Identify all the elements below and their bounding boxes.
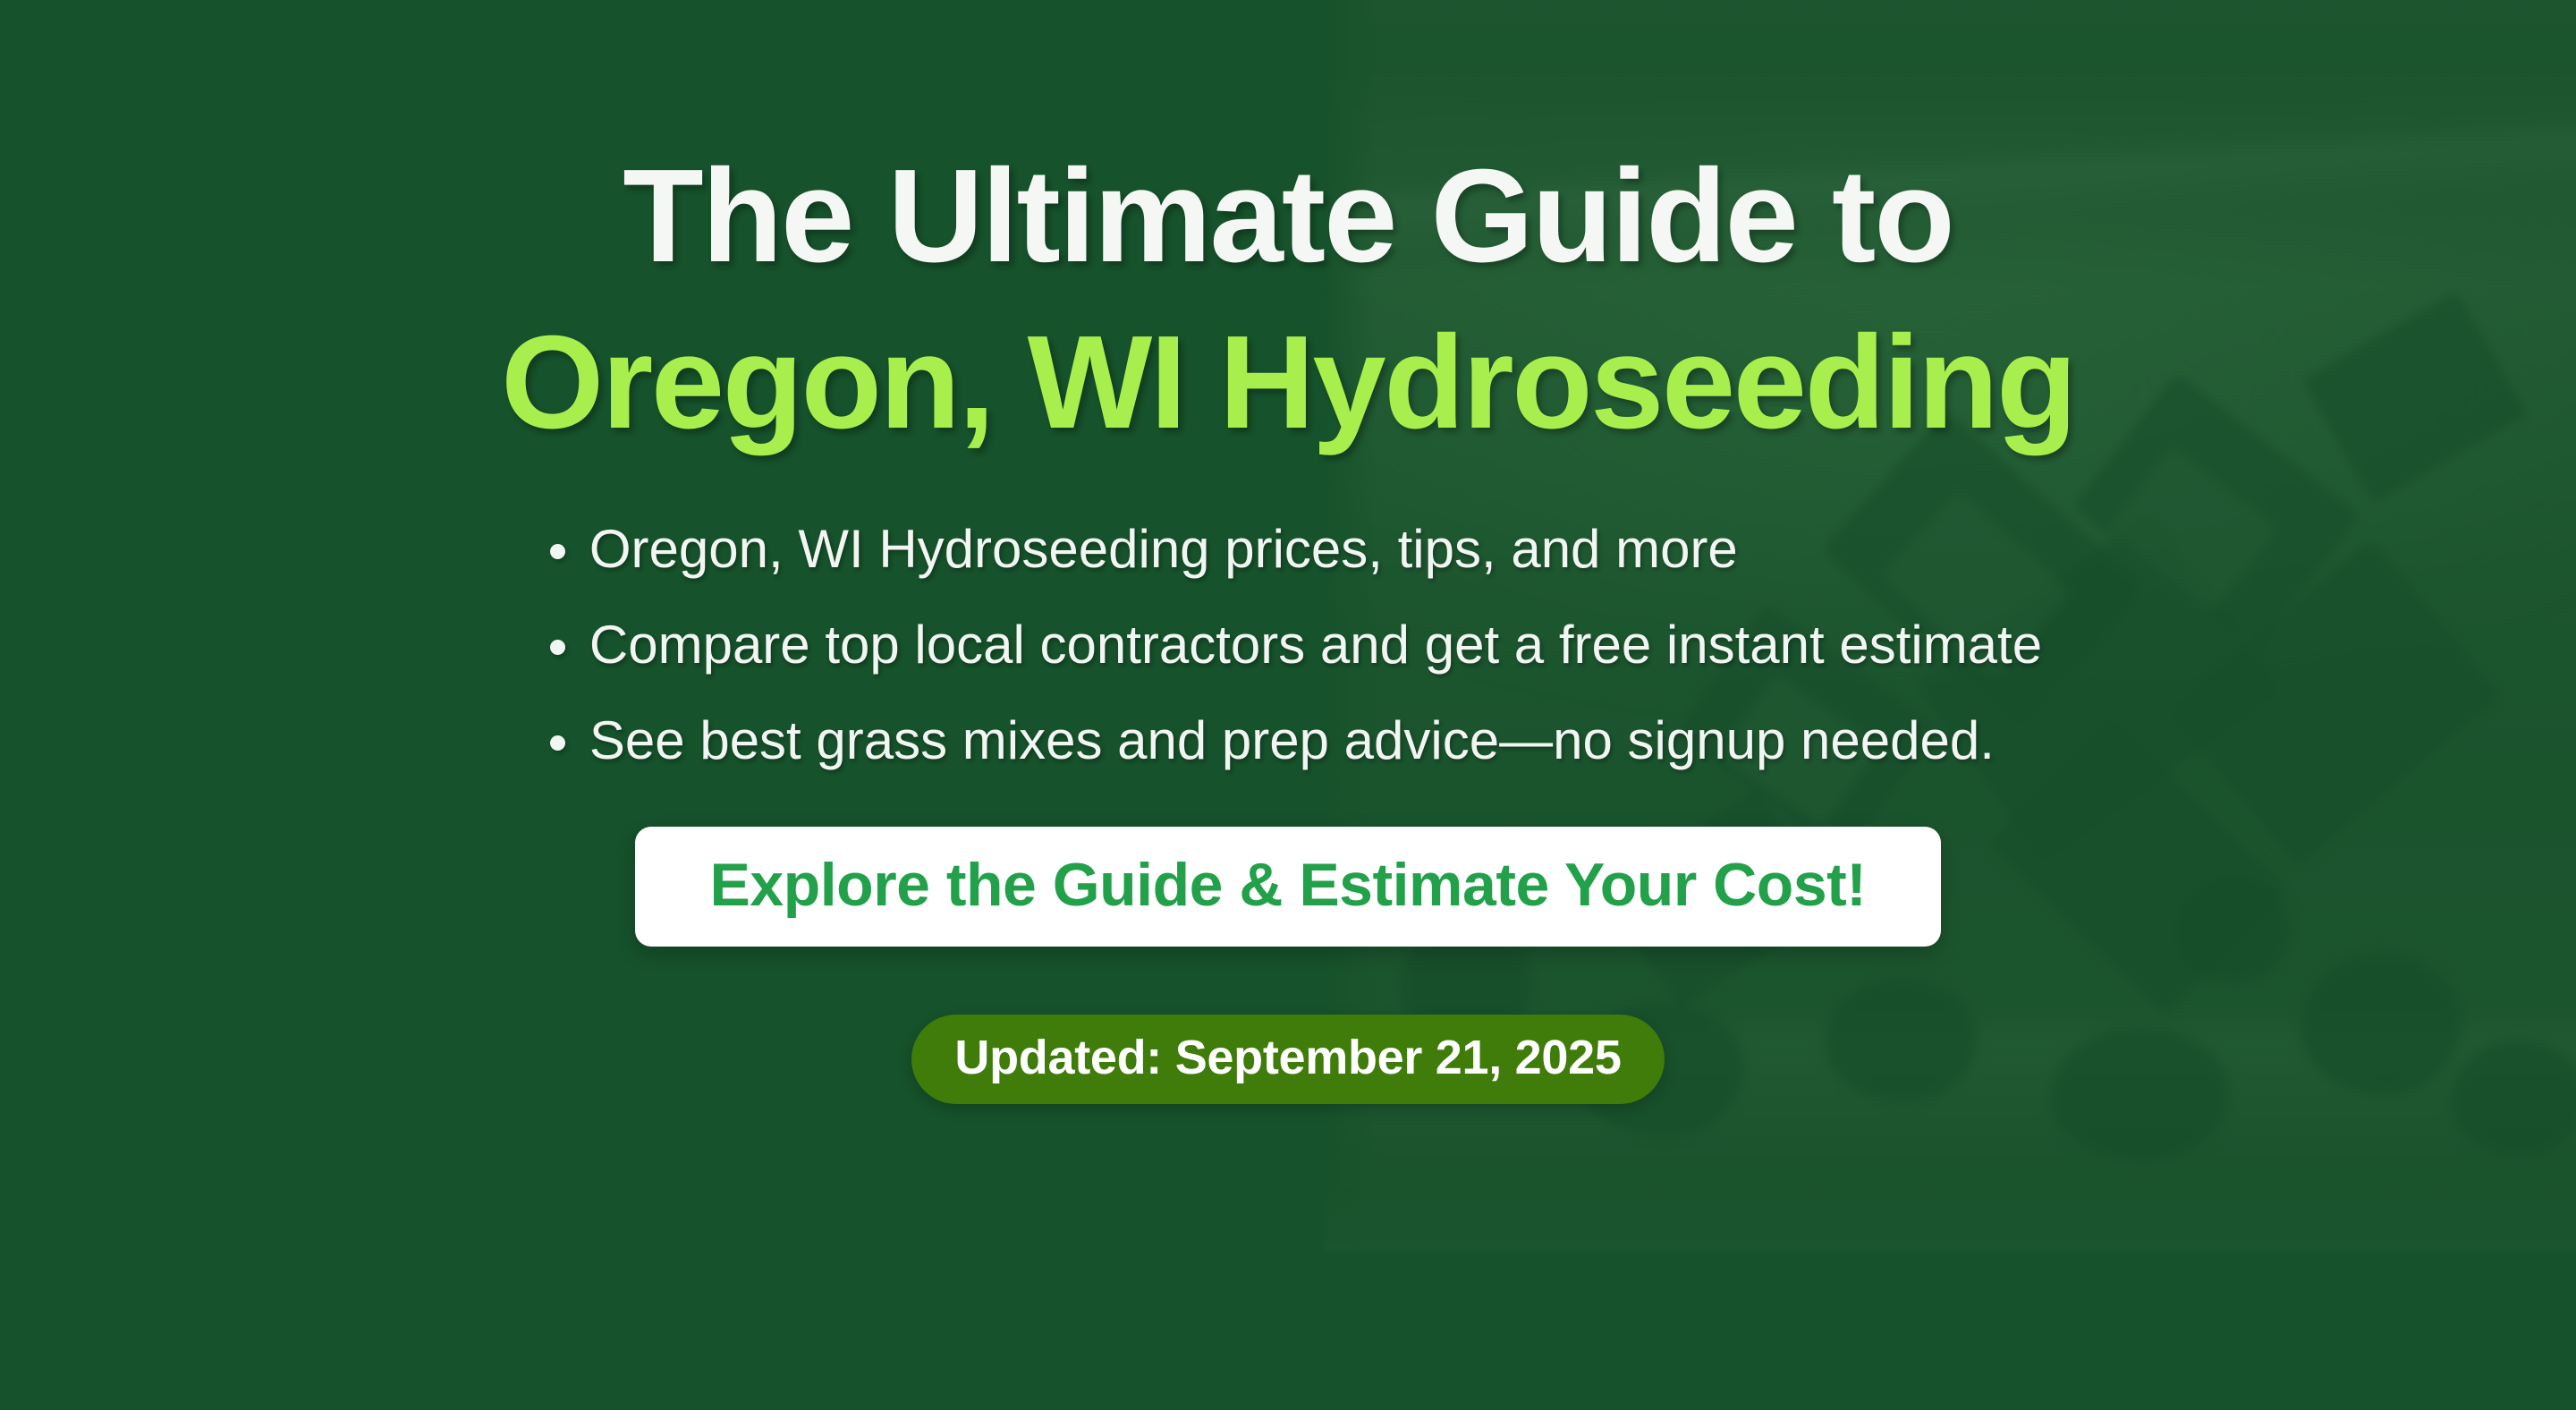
list-item: See best grass mixes and prep advice—no … xyxy=(534,710,2042,770)
explore-guide-button[interactable]: Explore the Guide & Estimate Your Cost! xyxy=(635,827,1942,947)
title-line-primary: The Ultimate Guide to xyxy=(623,142,1953,290)
last-updated-badge: Updated: September 21, 2025 xyxy=(911,1015,1664,1104)
hero-content: The Ultimate Guide to Oregon, WI Hydrose… xyxy=(0,0,2576,1410)
list-item: Oregon, WI Hydroseeding prices, tips, an… xyxy=(534,519,2042,579)
benefits-list: Oregon, WI Hydroseeding prices, tips, an… xyxy=(534,519,2042,771)
hero-banner: The Ultimate Guide to Oregon, WI Hydrose… xyxy=(0,0,2576,1410)
page-title: The Ultimate Guide to Oregon, WI Hydrose… xyxy=(501,150,2075,449)
list-item: Compare top local contractors and get a … xyxy=(534,615,2042,675)
title-line-accent: Oregon, WI Hydroseeding xyxy=(501,317,2075,449)
